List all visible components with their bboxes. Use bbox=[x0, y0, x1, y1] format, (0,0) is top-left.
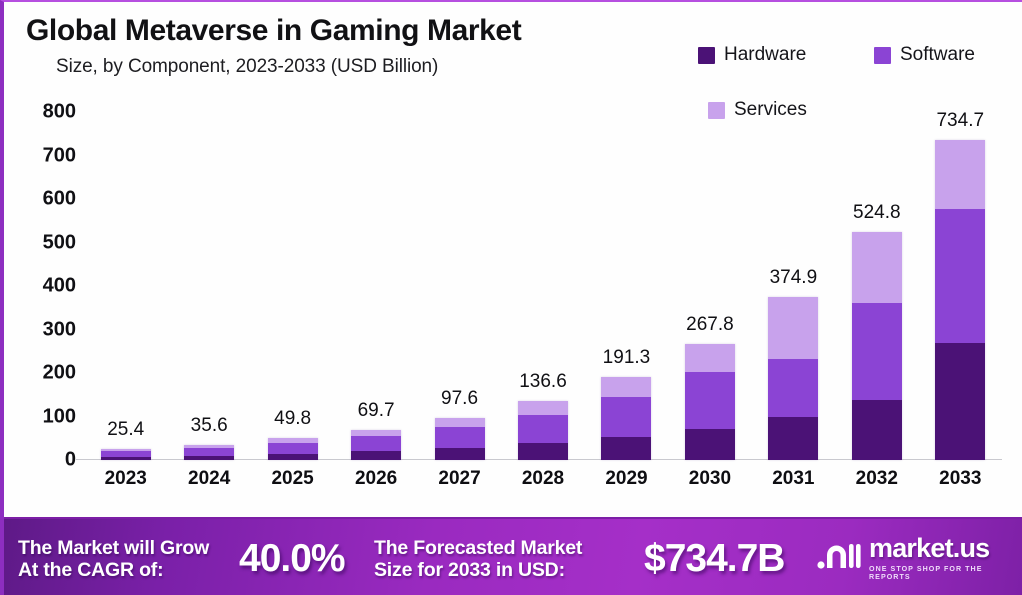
bar-value-label: 734.7 bbox=[936, 110, 984, 132]
market-us-logo[interactable]: market.us ONE STOP SHOP FOR THE REPORTS bbox=[816, 533, 1022, 581]
x-axis-tick: 2029 bbox=[586, 468, 666, 490]
bar-stack[interactable] bbox=[852, 232, 902, 460]
bar-stack[interactable] bbox=[101, 449, 151, 460]
x-axis-tick: 2027 bbox=[420, 468, 500, 490]
bar-segment-services[interactable] bbox=[685, 344, 735, 373]
y-axis: 8007006005004003002001000 bbox=[4, 112, 76, 460]
logo-tagline: ONE STOP SHOP FOR THE REPORTS bbox=[869, 565, 1022, 581]
bar-value-label: 374.9 bbox=[770, 267, 818, 289]
bar-value-label: 69.7 bbox=[358, 400, 395, 422]
bar-group[interactable] bbox=[184, 445, 234, 460]
bar-segment-hardware[interactable] bbox=[601, 437, 651, 460]
x-axis-tick: 2026 bbox=[336, 468, 416, 490]
bar-segment-software[interactable] bbox=[351, 436, 401, 451]
legend-item-hardware: Hardware bbox=[698, 44, 806, 66]
legend-swatch-software bbox=[874, 47, 891, 64]
bar-value-label: 191.3 bbox=[603, 347, 651, 369]
bar-segment-hardware[interactable] bbox=[351, 451, 401, 460]
bar-group[interactable] bbox=[351, 430, 401, 460]
page-title: Global Metaverse in Gaming Market bbox=[26, 14, 521, 48]
bar-group[interactable] bbox=[101, 449, 151, 460]
y-axis-tick: 300 bbox=[8, 318, 76, 341]
legend-item-software: Software bbox=[874, 44, 975, 66]
bar-segment-software[interactable] bbox=[518, 415, 568, 444]
bar-segment-software[interactable] bbox=[685, 372, 735, 428]
x-axis-tick: 2023 bbox=[86, 468, 166, 490]
bar-value-label: 97.6 bbox=[441, 388, 478, 410]
bar-segment-hardware[interactable] bbox=[268, 454, 318, 460]
y-axis-tick: 400 bbox=[8, 275, 76, 298]
bottom-banner: The Market will Grow At the CAGR of: 40.… bbox=[4, 517, 1022, 595]
bar-group[interactable] bbox=[435, 418, 485, 460]
legend-label-software: Software bbox=[900, 44, 975, 66]
x-axis-tick: 2028 bbox=[503, 468, 583, 490]
y-axis-tick: 600 bbox=[8, 188, 76, 211]
bar-stack[interactable] bbox=[268, 438, 318, 460]
bar-segment-services[interactable] bbox=[935, 140, 985, 209]
bar-value-label: 25.4 bbox=[107, 419, 144, 441]
bar-segment-software[interactable] bbox=[268, 443, 318, 454]
forecast-value: $734.7B bbox=[644, 537, 784, 581]
bar-segment-hardware[interactable] bbox=[518, 443, 568, 460]
y-axis-tick: 700 bbox=[8, 144, 76, 167]
bar-stack[interactable] bbox=[935, 140, 985, 460]
infographic-root: Global Metaverse in Gaming Market Size, … bbox=[0, 0, 1022, 595]
bar-stack[interactable] bbox=[435, 418, 485, 460]
bar-stack[interactable] bbox=[768, 297, 818, 460]
bar-stack[interactable] bbox=[351, 430, 401, 460]
bar-segment-software[interactable] bbox=[601, 397, 651, 437]
bar-segment-hardware[interactable] bbox=[768, 417, 818, 460]
y-axis-tick: 200 bbox=[8, 362, 76, 385]
bar-segment-hardware[interactable] bbox=[852, 400, 902, 460]
bar-segment-software[interactable] bbox=[852, 303, 902, 400]
bar-stack[interactable] bbox=[685, 344, 735, 460]
y-axis-tick: 800 bbox=[8, 101, 76, 124]
bar-segment-services[interactable] bbox=[435, 418, 485, 428]
forecast-label-line1: The Forecasted Market bbox=[374, 537, 582, 559]
cagr-label-line2: At the CAGR of: bbox=[18, 559, 209, 581]
forecast-label: The Forecasted Market Size for 2033 in U… bbox=[374, 537, 582, 582]
logo-wordmark: market.us bbox=[869, 533, 1022, 564]
bar-group[interactable] bbox=[935, 140, 985, 460]
bar-group[interactable] bbox=[768, 297, 818, 460]
bar-value-label: 136.6 bbox=[519, 371, 567, 393]
x-axis-tick: 2030 bbox=[670, 468, 750, 490]
bar-segment-hardware[interactable] bbox=[101, 457, 151, 460]
bar-segment-hardware[interactable] bbox=[184, 456, 234, 460]
x-axis-tick: 2024 bbox=[169, 468, 249, 490]
market-us-logo-icon bbox=[816, 538, 862, 577]
bar-segment-hardware[interactable] bbox=[935, 343, 985, 460]
bar-value-label: 49.8 bbox=[274, 408, 311, 430]
bar-value-label: 524.8 bbox=[853, 202, 901, 224]
bar-group[interactable] bbox=[852, 232, 902, 460]
cagr-value: 40.0% bbox=[239, 537, 345, 581]
bar-stack[interactable] bbox=[184, 445, 234, 460]
bar-group[interactable] bbox=[601, 377, 651, 460]
bar-segment-software[interactable] bbox=[184, 448, 234, 456]
bar-group[interactable] bbox=[685, 344, 735, 460]
bar-group[interactable] bbox=[518, 401, 568, 460]
bar-segment-services[interactable] bbox=[601, 377, 651, 397]
bar-segment-software[interactable] bbox=[935, 209, 985, 343]
legend-label-hardware: Hardware bbox=[724, 44, 806, 66]
chart-plot-area: 25.435.649.869.797.6136.6191.3267.8374.9… bbox=[84, 112, 1002, 460]
bar-segment-services[interactable] bbox=[351, 430, 401, 437]
bar-segment-software[interactable] bbox=[435, 427, 485, 448]
cagr-label-line1: The Market will Grow bbox=[18, 537, 209, 559]
bar-value-label: 267.8 bbox=[686, 314, 734, 336]
bar-segment-hardware[interactable] bbox=[435, 448, 485, 460]
bar-stack[interactable] bbox=[518, 401, 568, 460]
logo-text: market.us ONE STOP SHOP FOR THE REPORTS bbox=[869, 533, 1022, 581]
cagr-label: The Market will Grow At the CAGR of: bbox=[18, 537, 209, 582]
y-axis-tick: 0 bbox=[8, 449, 76, 472]
chart-subtitle: Size, by Component, 2023-2033 (USD Billi… bbox=[56, 56, 438, 78]
x-axis-tick: 2032 bbox=[837, 468, 917, 490]
y-axis-tick: 100 bbox=[8, 405, 76, 428]
bar-segment-hardware[interactable] bbox=[685, 429, 735, 460]
bar-segment-services[interactable] bbox=[768, 297, 818, 359]
bar-segment-software[interactable] bbox=[768, 359, 818, 417]
bar-group[interactable] bbox=[268, 438, 318, 460]
x-axis-tick: 2031 bbox=[753, 468, 833, 490]
bar-value-label: 35.6 bbox=[191, 415, 228, 437]
y-axis-tick: 500 bbox=[8, 231, 76, 254]
bar-stack[interactable] bbox=[601, 377, 651, 460]
bar-segment-services[interactable] bbox=[518, 401, 568, 415]
bar-segment-services[interactable] bbox=[852, 232, 902, 303]
forecast-label-line2: Size for 2033 in USD: bbox=[374, 559, 582, 581]
x-axis-tick: 2025 bbox=[253, 468, 333, 490]
legend-swatch-hardware bbox=[698, 47, 715, 64]
x-axis-tick: 2033 bbox=[920, 468, 1000, 490]
